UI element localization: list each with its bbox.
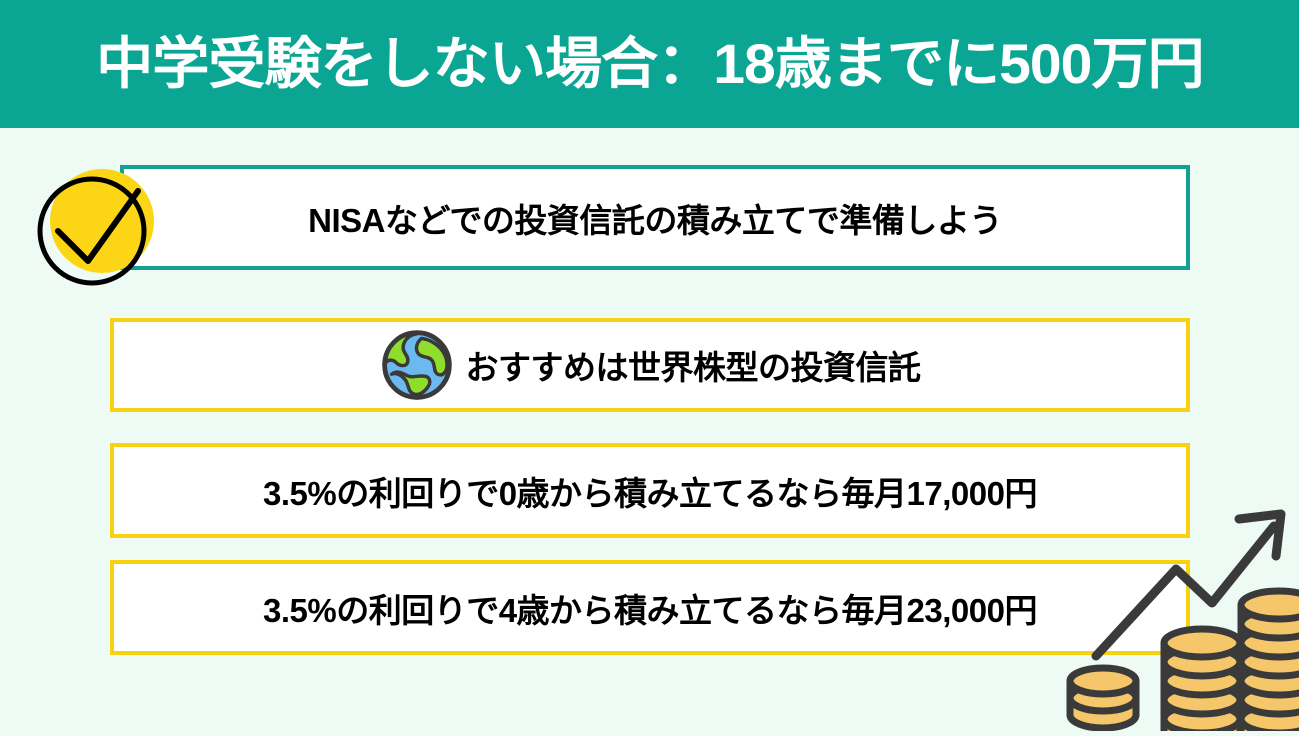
check-circle-icon bbox=[30, 163, 170, 293]
coin-stack-short bbox=[1070, 668, 1136, 728]
info-box-age4-monthly: 3.5%の利回りで4歳から積み立てるなら毎月23,000円 bbox=[110, 560, 1190, 655]
coin-stack-medium bbox=[1164, 629, 1240, 731]
info-box-world-equity: おすすめは世界株型の投資信託 bbox=[110, 318, 1190, 412]
info-box-age4-monthly-label: 3.5%の利回りで4歳から積み立てるなら毎月23,000円 bbox=[263, 584, 1037, 632]
info-box-nisa-label: NISAなどでの投資信託の積み立てで準備しよう bbox=[308, 194, 1002, 242]
info-box-world-equity-label: おすすめは世界株型の投資信託 bbox=[466, 341, 921, 389]
globe-icon bbox=[380, 328, 454, 402]
coin-stacks-growth-icon bbox=[1060, 500, 1299, 731]
info-box-world-equity-content: おすすめは世界株型の投資信託 bbox=[380, 328, 921, 402]
coin-stack-tall bbox=[1241, 591, 1299, 731]
page-header: 中学受験をしない場合：18歳までに500万円 bbox=[0, 0, 1299, 128]
info-box-age0-monthly-label: 3.5%の利回りで0歳から積み立てるなら毎月17,000円 bbox=[263, 467, 1037, 515]
page-title: 中学受験をしない場合：18歳までに500万円 bbox=[96, 36, 1203, 92]
info-box-nisa: NISAなどでの投資信託の積み立てで準備しよう bbox=[120, 165, 1190, 270]
info-box-age0-monthly: 3.5%の利回りで0歳から積み立てるなら毎月17,000円 bbox=[110, 443, 1190, 538]
